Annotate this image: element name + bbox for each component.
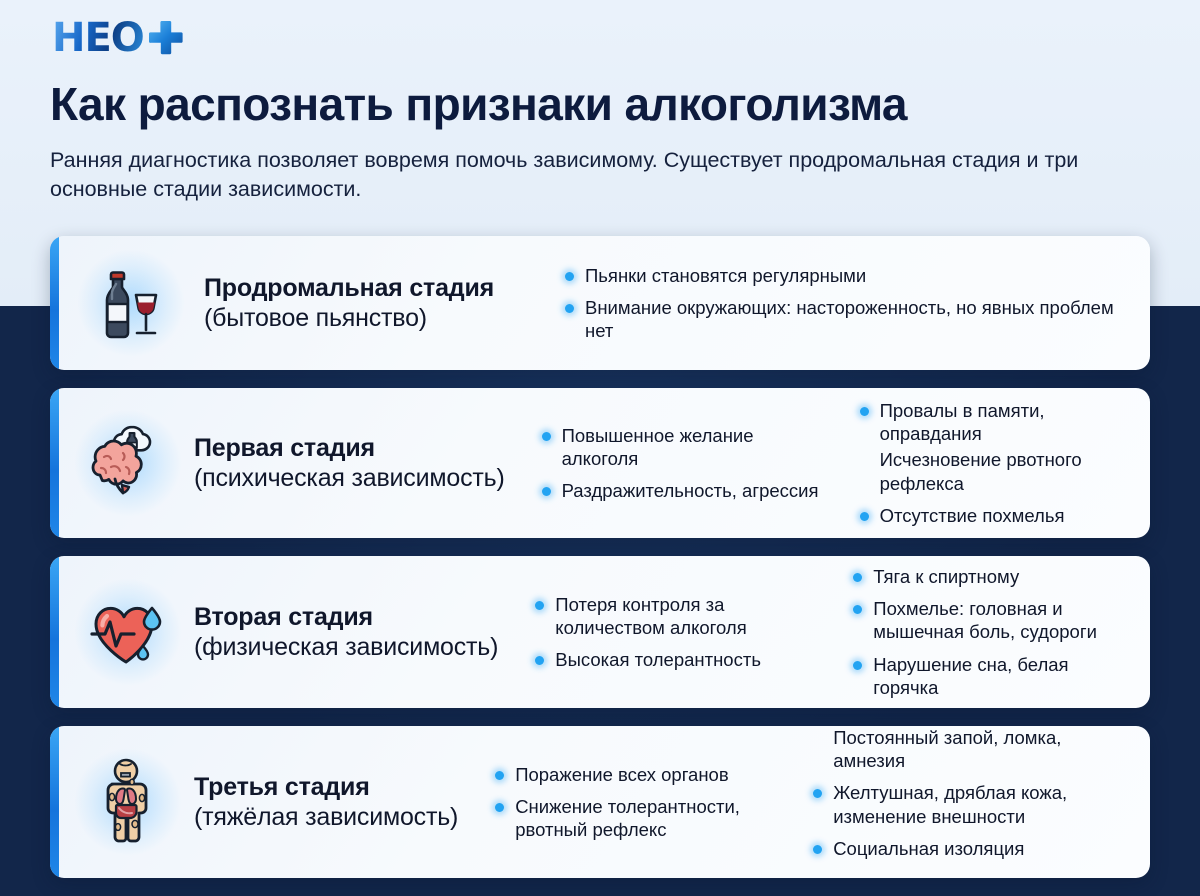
symptom-text: Социальная изоляция (833, 837, 1024, 860)
symptom-text: Пьянки становятся регулярными (585, 264, 866, 287)
stage-name: Продромальная стадия (204, 273, 494, 303)
symptom-columns: Повышенное желание алкоголя Раздражитель… (520, 399, 1132, 527)
symptom-text: Похмелье: головная и мышечная боль, судо… (873, 597, 1128, 644)
stage-identity: Первая стадия (психическая зависимость) (76, 411, 505, 515)
symptom-text: Постоянный запой, ломка, амнезия (833, 726, 1128, 772)
stage-subtitle: (тяжёлая зависимость) (194, 802, 458, 832)
brain-with-bottle-thought-icon (76, 411, 180, 515)
symptom-column: Постоянный запой, ломка, амнезия Желтушн… (791, 726, 1132, 860)
heart-with-pulse-icon (76, 580, 180, 684)
stage-identity: Третья стадия (тяжёлая зависимость) (76, 750, 458, 854)
symptom-text: Потеря контроля за количеством алкоголя (555, 593, 827, 640)
stage-card: Продромальная стадия (бытовое пьянство) … (50, 236, 1150, 370)
symptom-item: Нарушение сна, белая горячка (853, 653, 1128, 700)
symptom-columns: Поражение всех органов Снижение толерант… (473, 744, 1132, 860)
bullet-icon (853, 661, 862, 670)
symptom-column: Тяга к спиртному Похмелье: головная и мы… (831, 565, 1132, 699)
stage-name: Третья стадия (194, 772, 458, 802)
symptom-text: Повышенное желание алкоголя (562, 424, 834, 471)
symptom-column: Пьянки становятся регулярными Внимание о… (537, 264, 1132, 343)
stage-card-list: Продромальная стадия (бытовое пьянство) … (50, 236, 1150, 878)
symptom-item: Отсутствие похмелья (860, 504, 1128, 527)
bullet-icon (860, 407, 869, 416)
symptom-text: Снижение толерантности, рвотный рефлекс (515, 795, 787, 842)
symptom-column: Провалы в памяти, оправдания Исчезновени… (838, 399, 1132, 527)
stage-subtitle: (бытовое пьянство) (204, 303, 494, 333)
symptom-columns: Потеря контроля за количеством алкоголя … (513, 565, 1132, 699)
symptom-item: Высокая толерантность (535, 648, 827, 671)
bullet-icon (860, 512, 869, 521)
stage-name: Вторая стадия (194, 602, 498, 632)
symptom-item: Внимание окружающих: настороженность, но… (565, 296, 1128, 343)
bullet-icon (495, 803, 504, 812)
symptom-text: Тяга к спиртному (873, 565, 1019, 588)
stage-subtitle: (физическая зависимость) (194, 632, 498, 662)
page-title: Как распознать признаки алкоголизма (50, 80, 1150, 130)
symptom-item: Желтушная, дряблая кожа, изменение внешн… (813, 781, 1128, 828)
bullet-icon (542, 432, 551, 441)
brand-logo-text: HEO (52, 18, 144, 58)
symptom-item: Поражение всех органов (495, 763, 787, 786)
bullet-icon (542, 487, 551, 496)
stage-title-block: Продромальная стадия (бытовое пьянство) (204, 273, 494, 333)
wine-bottle-and-glass-icon (76, 251, 186, 355)
stage-card: Первая стадия (психическая зависимость) … (50, 388, 1150, 538)
bullet-icon (813, 845, 822, 854)
stage-title-block: Первая стадия (психическая зависимость) (194, 433, 505, 493)
bullet-icon (853, 573, 862, 582)
symptom-item: Раздражительность, агрессия (542, 479, 834, 502)
stage-identity: Вторая стадия (физическая зависимость) (76, 580, 498, 684)
symptom-column: Поражение всех органов Снижение толерант… (473, 763, 791, 842)
bullet-icon (495, 771, 504, 780)
bullet-icon (813, 789, 822, 798)
symptom-columns: Пьянки становятся регулярными Внимание о… (537, 264, 1132, 343)
bullet-icon (853, 605, 862, 614)
bullet-icon (565, 304, 574, 313)
stage-card: Вторая стадия (физическая зависимость) П… (50, 556, 1150, 708)
stage-title-block: Третья стадия (тяжёлая зависимость) (194, 772, 458, 832)
symptom-text: Отсутствие похмелья (880, 504, 1065, 527)
bullet-icon (565, 272, 574, 281)
stage-identity: Продромальная стадия (бытовое пьянство) (76, 251, 494, 355)
stage-subtitle: (психическая зависимость) (194, 463, 505, 493)
symptom-item: Социальная изоляция (813, 837, 1128, 860)
symptom-text: Нарушение сна, белая горячка (873, 653, 1128, 700)
symptom-text: Высокая толерантность (555, 648, 761, 671)
symptom-text: Провалы в памяти, оправдания (880, 399, 1128, 446)
brand-logo: HEO (52, 16, 1150, 60)
symptom-text: Поражение всех органов (515, 763, 729, 786)
symptom-item: Повышенное желание алкоголя (542, 424, 834, 471)
symptom-column: Потеря контроля за количеством алкоголя … (513, 593, 831, 672)
symptom-item: Постоянный запой, ломка, амнезия (813, 726, 1128, 772)
symptom-item: Тяга к спиртному (853, 565, 1128, 588)
symptom-item: Пьянки становятся регулярными (565, 264, 1128, 287)
symptom-item: Исчезновение рвотного рефлекса (860, 448, 1128, 495)
stage-card: Третья стадия (тяжёлая зависимость) Пора… (50, 726, 1150, 878)
bullet-icon (535, 601, 544, 610)
symptom-item: Провалы в памяти, оправдания (860, 399, 1128, 446)
bullet-icon (535, 656, 544, 665)
stage-title-block: Вторая стадия (физическая зависимость) (194, 602, 498, 662)
symptom-text: Желтушная, дряблая кожа, изменение внешн… (833, 781, 1128, 828)
symptom-item: Потеря контроля за количеством алкоголя (535, 593, 827, 640)
human-body-organs-icon (76, 750, 180, 854)
symptom-item: Похмелье: головная и мышечная боль, судо… (853, 597, 1128, 644)
symptom-column: Повышенное желание алкоголя Раздражитель… (520, 424, 838, 503)
symptom-text: Внимание окружающих: настороженность, но… (585, 296, 1128, 343)
symptom-text: Исчезновение рвотного рефлекса (880, 448, 1128, 495)
page-subtitle: Ранняя диагностика позволяет вовремя пом… (50, 146, 1090, 205)
stage-name: Первая стадия (194, 433, 505, 463)
symptom-item: Снижение толерантности, рвотный рефлекс (495, 795, 787, 842)
plus-icon (149, 21, 183, 55)
symptom-text: Раздражительность, агрессия (562, 479, 819, 502)
